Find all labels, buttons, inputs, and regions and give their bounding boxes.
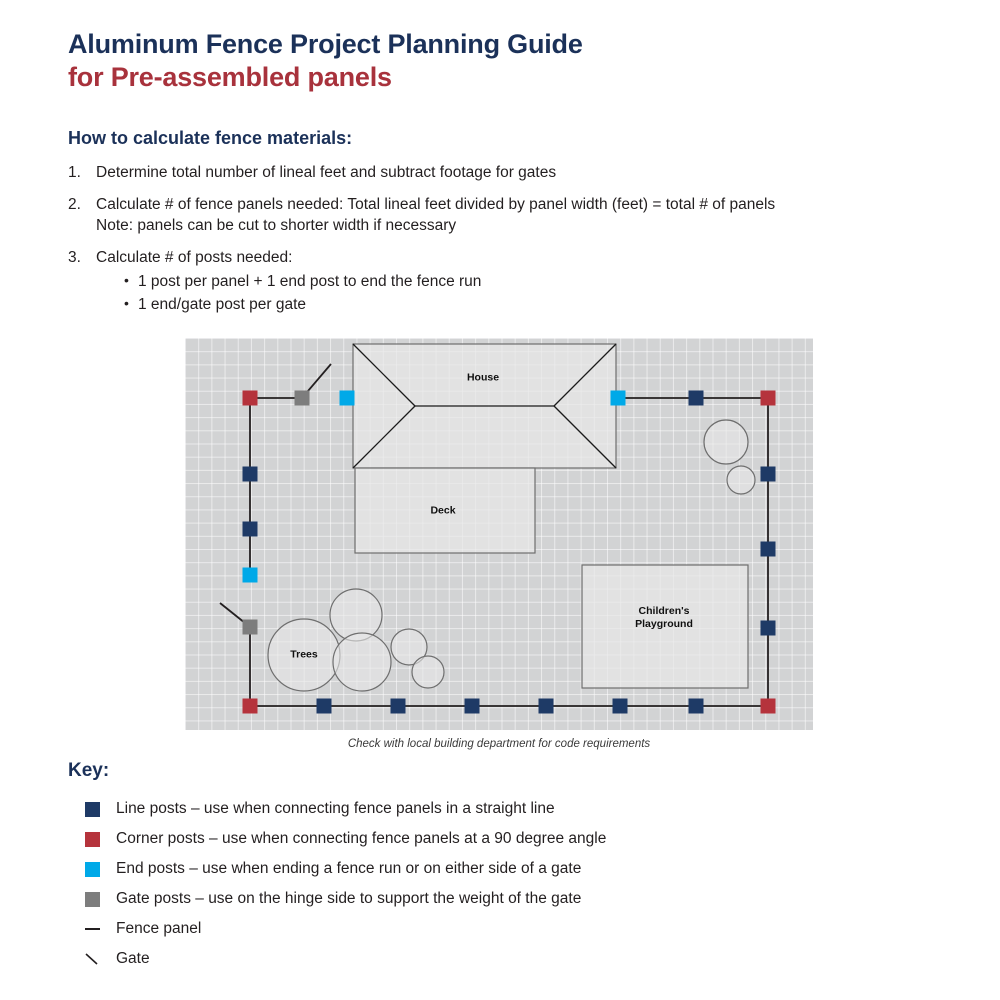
step-3-number: 3. bbox=[68, 247, 96, 268]
gate-diagonal-svg bbox=[84, 951, 100, 967]
page-title: Aluminum Fence Project Planning Guide fo… bbox=[68, 28, 948, 94]
end-post-left bbox=[243, 568, 258, 583]
yard-plan-diagram: HouseDeckTreesChildren's Playground bbox=[185, 338, 813, 730]
end-post-top-left-of-house bbox=[340, 391, 355, 406]
line-post-top-right bbox=[689, 391, 704, 406]
line-post-bottom-4 bbox=[465, 699, 480, 714]
diagram-caption: Check with local building department for… bbox=[185, 738, 813, 750]
diagram-canvas: HouseDeckTreesChildren's Playground bbox=[185, 338, 813, 730]
key-item-gate: Gate bbox=[68, 944, 948, 974]
corner-post-swatch-icon bbox=[68, 832, 116, 847]
gate-post-swatch-icon bbox=[68, 892, 116, 907]
tree-large-left bbox=[268, 619, 340, 691]
key-item-fence-panel: Fence panel bbox=[68, 914, 948, 944]
gate-post-top-left bbox=[295, 391, 310, 406]
corner-post-bottom-right bbox=[761, 699, 776, 714]
step-2-body: Calculate # of fence panels needed: Tota… bbox=[96, 194, 948, 236]
step-3: 3. Calculate # of posts needed: 1 post p… bbox=[68, 247, 948, 316]
tree-right-of-house-large bbox=[704, 420, 748, 464]
page-root: Aluminum Fence Project Planning Guide fo… bbox=[0, 0, 1000, 1000]
key-item-gate-post-label: Gate posts – use on the hinge side to su… bbox=[116, 889, 581, 909]
line-post-left-1 bbox=[243, 522, 258, 537]
key-item-end-post-label: End posts – use when ending a fence run … bbox=[116, 859, 581, 879]
step-2-text: Calculate # of fence panels needed: Tota… bbox=[96, 194, 948, 215]
tree-lower-middle bbox=[333, 633, 391, 691]
line-post-bottom-5 bbox=[391, 699, 406, 714]
end-post-swatch-icon bbox=[68, 862, 116, 877]
how-to-section: How to calculate fence materials: 1. Det… bbox=[68, 128, 948, 327]
corner-post-top-right bbox=[761, 391, 776, 406]
key-item-corner-post: Corner posts – use when connecting fence… bbox=[68, 824, 948, 854]
key-item-gate-post: Gate posts – use on the hinge side to su… bbox=[68, 884, 948, 914]
step-1-body: Determine total number of lineal feet an… bbox=[96, 162, 948, 183]
deck-outline bbox=[355, 468, 535, 553]
step-1-number: 1. bbox=[68, 162, 96, 183]
step-3-bullet-2: 1 end/gate post per gate bbox=[96, 293, 948, 316]
title-line-1: Aluminum Fence Project Planning Guide bbox=[68, 28, 948, 61]
line-post-left-2 bbox=[243, 467, 258, 482]
gate-post-left bbox=[243, 620, 258, 635]
line-post-bottom-1 bbox=[689, 699, 704, 714]
playground-outline bbox=[582, 565, 748, 688]
step-3-bullet-1: 1 post per panel + 1 end post to end the… bbox=[96, 270, 948, 293]
how-to-heading: How to calculate fence materials: bbox=[68, 128, 948, 149]
diagram-vector-layer bbox=[185, 338, 813, 730]
line-post-swatch-icon bbox=[68, 802, 116, 817]
step-1: 1. Determine total number of lineal feet… bbox=[68, 162, 948, 183]
step-2: 2. Calculate # of fence panels needed: T… bbox=[68, 194, 948, 236]
gate-diagonal-icon bbox=[68, 951, 116, 967]
line-post-right-1 bbox=[761, 467, 776, 482]
line-post-bottom-3 bbox=[539, 699, 554, 714]
step-3-bullets: 1 post per panel + 1 end post to end the… bbox=[96, 270, 948, 316]
key-legend: Key: Line posts – use when connecting fe… bbox=[68, 760, 948, 974]
line-post-right-2 bbox=[761, 542, 776, 557]
step-2-note: Note: panels can be cut to shorter width… bbox=[96, 215, 948, 236]
end-post-top-right-of-house bbox=[611, 391, 626, 406]
line-post-right-3 bbox=[761, 621, 776, 636]
tree-small-lower-right bbox=[412, 656, 444, 688]
tree-right-of-house-small bbox=[727, 466, 755, 494]
line-post-bottom-2 bbox=[613, 699, 628, 714]
corner-post-top-left bbox=[243, 391, 258, 406]
key-item-end-post: End posts – use when ending a fence run … bbox=[68, 854, 948, 884]
line-post-bottom-6 bbox=[317, 699, 332, 714]
step-1-text: Determine total number of lineal feet an… bbox=[96, 162, 948, 183]
key-item-line-post-label: Line posts – use when connecting fence p… bbox=[116, 799, 555, 819]
step-3-body: Calculate # of posts needed: 1 post per … bbox=[96, 247, 948, 316]
step-3-text: Calculate # of posts needed: bbox=[96, 247, 948, 268]
title-line-2: for Pre-assembled panels bbox=[68, 61, 948, 94]
key-item-corner-post-label: Corner posts – use when connecting fence… bbox=[116, 829, 606, 849]
step-2-number: 2. bbox=[68, 194, 96, 215]
key-item-line-post: Line posts – use when connecting fence p… bbox=[68, 794, 948, 824]
corner-post-bottom-left bbox=[243, 699, 258, 714]
key-heading: Key: bbox=[68, 760, 948, 782]
fence-panel-dash-icon bbox=[68, 928, 116, 930]
key-item-fence-panel-label: Fence panel bbox=[116, 919, 201, 939]
key-item-gate-label: Gate bbox=[116, 949, 150, 969]
